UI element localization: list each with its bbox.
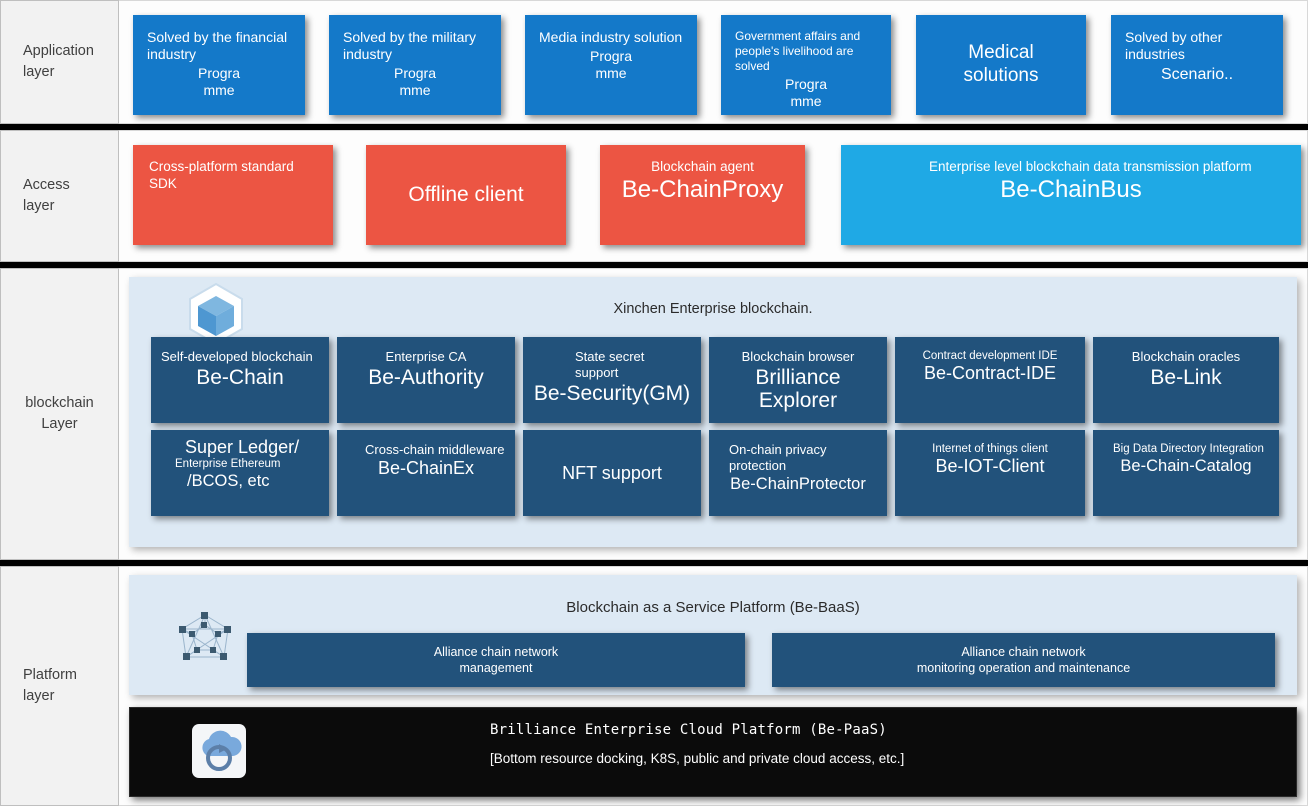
blockchain-card-brilliance-explorer[interactable]: Blockchain browser Brilliance Explorer	[709, 337, 887, 423]
access-card-chain-bus[interactable]: Enterprise level blockchain data transmi…	[841, 145, 1301, 245]
platform-layer-label: Platform layer	[0, 566, 119, 806]
blockchain-layer-content: Xinchen Enterprise blockchain. Self-deve…	[119, 268, 1308, 560]
access-card-sdk[interactable]: Cross-platform standard SDK	[133, 145, 333, 245]
application-layer-label-line2: layer	[23, 62, 94, 83]
baas-card-network-monitoring-line1: Alliance chain network	[772, 644, 1275, 660]
blockchain-card-super-ledger-sub: Super Ledger/	[161, 438, 319, 458]
blockchain-layer-band: blockchain Layer Xinchen Enterprise bloc…	[0, 268, 1308, 560]
application-card-military-sub: Solved by the military industry	[343, 29, 487, 63]
application-card-media-main-line1: Progra	[539, 48, 683, 65]
application-layer-content: Solved by the financial industry Progra …	[119, 0, 1308, 124]
application-card-other-main: Scenario..	[1125, 65, 1269, 84]
application-card-military[interactable]: Solved by the military industry Progra m…	[329, 15, 501, 115]
blockchain-panel-title: Xinchen Enterprise blockchain.	[129, 301, 1297, 317]
application-card-row: Solved by the financial industry Progra …	[133, 9, 1301, 113]
access-card-chain-proxy-main: Be-ChainProxy	[616, 176, 789, 204]
blockchain-card-be-iot-client-main: Be-IOT-Client	[905, 457, 1075, 477]
application-card-financial[interactable]: Solved by the financial industry Progra …	[133, 15, 305, 115]
access-card-offline-client-main: Offline client	[382, 183, 550, 207]
network-mesh-icon	[174, 611, 236, 671]
blockchain-card-be-authority-main: Be-Authority	[347, 366, 505, 389]
blockchain-card-be-security[interactable]: State secret support Be-Security(GM)	[523, 337, 701, 423]
blockchain-card-brilliance-explorer-sub: Blockchain browser	[719, 349, 877, 365]
application-card-media-main-line2: mme	[539, 65, 683, 82]
application-card-military-main-line2: mme	[343, 82, 487, 99]
blockchain-card-be-iot-client[interactable]: Internet of things client Be-IOT-Client	[895, 430, 1085, 516]
blockchain-card-be-link-main: Be-Link	[1103, 366, 1269, 389]
baas-card-network-monitoring[interactable]: Alliance chain network monitoring operat…	[772, 633, 1275, 687]
blockchain-card-nft-support-main: NFT support	[533, 464, 691, 484]
blockchain-card-super-ledger-main: /BCOS, etc	[161, 472, 319, 490]
architecture-diagram: Application layer Solved by the financia…	[0, 0, 1308, 806]
access-layer-content: Cross-platform standard SDK Offline clie…	[119, 130, 1308, 262]
application-card-government-main-line2: mme	[735, 93, 877, 110]
baas-card-network-management-line2: management	[247, 660, 745, 676]
blockchain-card-be-iot-client-sub: Internet of things client	[905, 442, 1075, 456]
access-layer-label-line2: layer	[23, 196, 70, 217]
blockchain-card-be-chainprotector-sub: On-chain privacy protection	[719, 442, 877, 474]
blockchain-card-brilliance-explorer-main: Brilliance Explorer	[719, 366, 877, 413]
application-layer-band: Application layer Solved by the financia…	[0, 0, 1308, 124]
platform-layer-content: Blockchain as a Service Platform (Be-Baa…	[119, 566, 1308, 806]
blockchain-card-be-contract-ide-sub: Contract development IDE	[905, 349, 1075, 363]
blockchain-card-super-ledger[interactable]: Super Ledger/ Enterprise Ethereum /BCOS,…	[151, 430, 329, 516]
access-card-chain-bus-sub: Enterprise level blockchain data transmi…	[857, 159, 1285, 176]
blockchain-card-super-ledger-sub2: Enterprise Ethereum	[161, 458, 319, 472]
blockchain-card-be-chainex-sub: Cross-chain middleware	[347, 442, 505, 458]
cloud-sync-icon	[192, 724, 246, 778]
application-card-financial-main-line2: mme	[147, 82, 291, 99]
blockchain-card-be-security-main: Be-Security(GM)	[533, 382, 691, 406]
access-card-row: Cross-platform standard SDK Offline clie…	[133, 141, 1301, 249]
blockchain-card-be-chain-catalog-main: Be-Chain-Catalog	[1103, 457, 1269, 475]
blockchain-card-row-2: Super Ledger/ Enterprise Ethereum /BCOS,…	[151, 430, 1279, 516]
application-layer-label-line1: Application	[23, 41, 94, 62]
baas-panel-title: Blockchain as a Service Platform (Be-Baa…	[129, 599, 1297, 616]
access-card-chain-proxy-sub: Blockchain agent	[616, 159, 789, 176]
access-layer-band: Access layer Cross-platform standard SDK…	[0, 130, 1308, 262]
application-layer-label: Application layer	[0, 0, 119, 124]
blockchain-card-be-security-sub: State secret support	[533, 349, 691, 381]
blockchain-card-be-authority-sub: Enterprise CA	[347, 349, 505, 365]
application-card-financial-sub: Solved by the financial industry	[147, 29, 291, 63]
blockchain-card-be-link[interactable]: Blockchain oracles Be-Link	[1093, 337, 1279, 423]
blockchain-card-be-chain-sub: Self-developed blockchain	[161, 349, 319, 365]
application-card-government-sub: Government affairs and people's liveliho…	[735, 29, 877, 74]
access-card-chain-bus-main: Be-ChainBus	[857, 176, 1285, 204]
blockchain-card-be-chainex-main: Be-ChainEx	[347, 459, 505, 479]
blockchain-card-be-contract-ide-main: Be-Contract-IDE	[905, 364, 1075, 384]
platform-layer-label-line2: layer	[23, 686, 77, 707]
blockchain-layer-label: blockchain Layer	[0, 268, 119, 560]
blockchain-card-be-chainprotector[interactable]: On-chain privacy protection Be-ChainProt…	[709, 430, 887, 516]
application-card-other-sub: Solved by other industries	[1125, 29, 1269, 63]
blockchain-layer-label-line2: Layer	[25, 414, 94, 435]
blockchain-card-grid: Self-developed blockchain Be-Chain Enter…	[151, 337, 1279, 516]
application-card-other[interactable]: Solved by other industries Scenario..	[1111, 15, 1283, 115]
baas-card-network-management[interactable]: Alliance chain network management	[247, 633, 745, 687]
blockchain-layer-label-line1: blockchain	[25, 393, 94, 414]
blockchain-card-be-chain-catalog[interactable]: Big Data Directory Integration Be-Chain-…	[1093, 430, 1279, 516]
blockchain-card-be-contract-ide[interactable]: Contract development IDE Be-Contract-IDE	[895, 337, 1085, 423]
blockchain-card-be-authority[interactable]: Enterprise CA Be-Authority	[337, 337, 515, 423]
application-card-media[interactable]: Media industry solution Progra mme	[525, 15, 697, 115]
access-card-chain-proxy[interactable]: Blockchain agent Be-ChainProxy	[600, 145, 805, 245]
baas-card-network-management-line1: Alliance chain network	[247, 644, 745, 660]
blockchain-card-be-chain-catalog-sub: Big Data Directory Integration	[1103, 442, 1269, 456]
blockchain-card-nft-support[interactable]: NFT support	[523, 430, 701, 516]
blockchain-panel: Xinchen Enterprise blockchain. Self-deve…	[129, 277, 1297, 547]
baas-card-network-monitoring-line2: monitoring operation and maintenance	[772, 660, 1275, 676]
access-layer-label: Access layer	[0, 130, 119, 262]
blockchain-card-be-chain-main: Be-Chain	[161, 366, 319, 389]
blockchain-card-be-chainprotector-main: Be-ChainProtector	[719, 475, 877, 493]
application-card-financial-main-line1: Progra	[147, 65, 291, 82]
paas-text-block: Brilliance Enterprise Cloud Platform (Be…	[490, 722, 904, 768]
paas-subtitle: [Bottom resource docking, K8S, public an…	[490, 750, 904, 768]
application-card-military-main-line1: Progra	[343, 65, 487, 82]
paas-title: Brilliance Enterprise Cloud Platform (Be…	[490, 722, 904, 738]
application-card-medical-main: Medical solutions	[930, 42, 1072, 88]
paas-bar[interactable]: Brilliance Enterprise Cloud Platform (Be…	[129, 707, 1297, 797]
blockchain-card-row-1: Self-developed blockchain Be-Chain Enter…	[151, 337, 1279, 423]
application-card-media-sub: Media industry solution	[539, 29, 683, 46]
blockchain-card-be-chain[interactable]: Self-developed blockchain Be-Chain	[151, 337, 329, 423]
baas-panel: Blockchain as a Service Platform (Be-Baa…	[129, 575, 1297, 695]
application-card-government[interactable]: Government affairs and people's liveliho…	[721, 15, 891, 115]
application-card-government-main-line1: Progra	[735, 76, 877, 93]
access-layer-label-line1: Access	[23, 175, 70, 196]
platform-layer-label-line1: Platform	[23, 665, 77, 686]
blockchain-card-be-link-sub: Blockchain oracles	[1103, 349, 1269, 365]
access-card-sdk-sub: Cross-platform standard SDK	[149, 159, 317, 193]
baas-card-row: Alliance chain network management Allian…	[247, 633, 1275, 687]
application-card-medical[interactable]: Medical solutions	[916, 15, 1086, 115]
platform-layer-band: Platform layer	[0, 566, 1308, 806]
blockchain-card-be-chainex[interactable]: Cross-chain middleware Be-ChainEx	[337, 430, 515, 516]
access-card-offline-client[interactable]: Offline client	[366, 145, 566, 245]
